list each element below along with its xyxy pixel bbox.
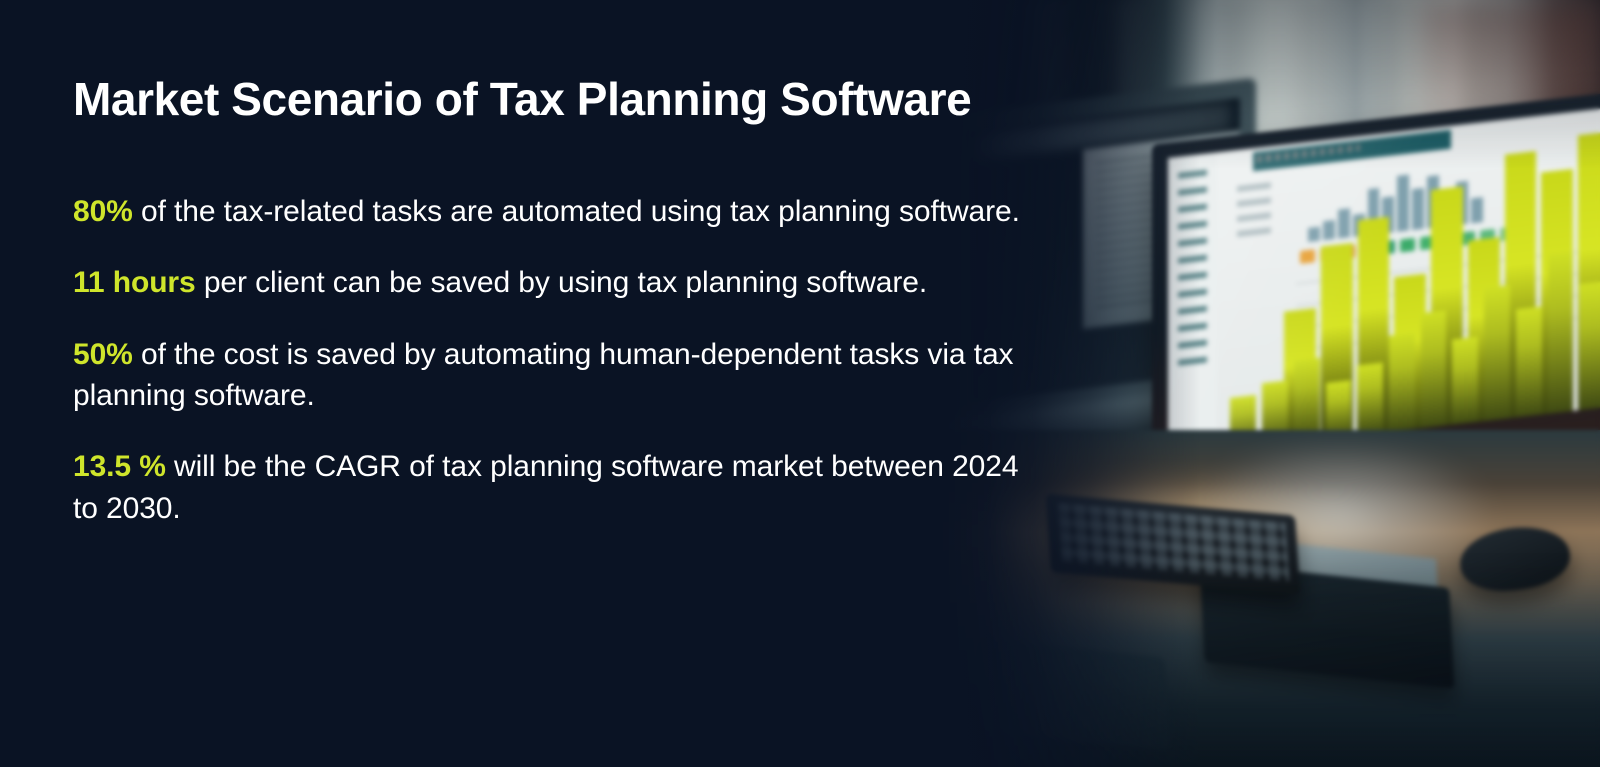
stat-highlight: 11 hours [73, 266, 196, 299]
dashboard-sidebar [1168, 152, 1217, 457]
stat-highlight: 80% [73, 195, 133, 228]
stat-text: will be the CAGR of tax planning softwar… [73, 450, 1018, 524]
text-content: Market Scenario of Tax Planning Software… [73, 70, 1033, 529]
stat-text: per client can be saved by using tax pla… [196, 266, 928, 299]
keyboard-keys [1058, 503, 1289, 582]
page-title: Market Scenario of Tax Planning Software [73, 70, 1033, 129]
desktop-monitor [1152, 91, 1600, 485]
monitor-screen [1168, 107, 1600, 457]
stat-item: 80% of the tax-related tasks are automat… [73, 191, 1033, 232]
workstation-photo [940, 0, 1600, 767]
stat-highlight: 13.5 % [73, 450, 166, 483]
stat-text: of the cost is saved by automating human… [73, 338, 1013, 412]
stat-text: of the tax-related tasks are automated u… [133, 195, 1020, 228]
stat-item: 11 hours per client can be saved by usin… [73, 262, 1033, 303]
stat-item: 50% of the cost is saved by automating h… [73, 334, 1033, 417]
dashboard-menu-items [1237, 182, 1271, 237]
infographic-banner: Market Scenario of Tax Planning Software… [0, 0, 1600, 767]
stat-item: 13.5 % will be the CAGR of tax planning … [73, 446, 1033, 529]
stat-highlight: 50% [73, 338, 133, 371]
